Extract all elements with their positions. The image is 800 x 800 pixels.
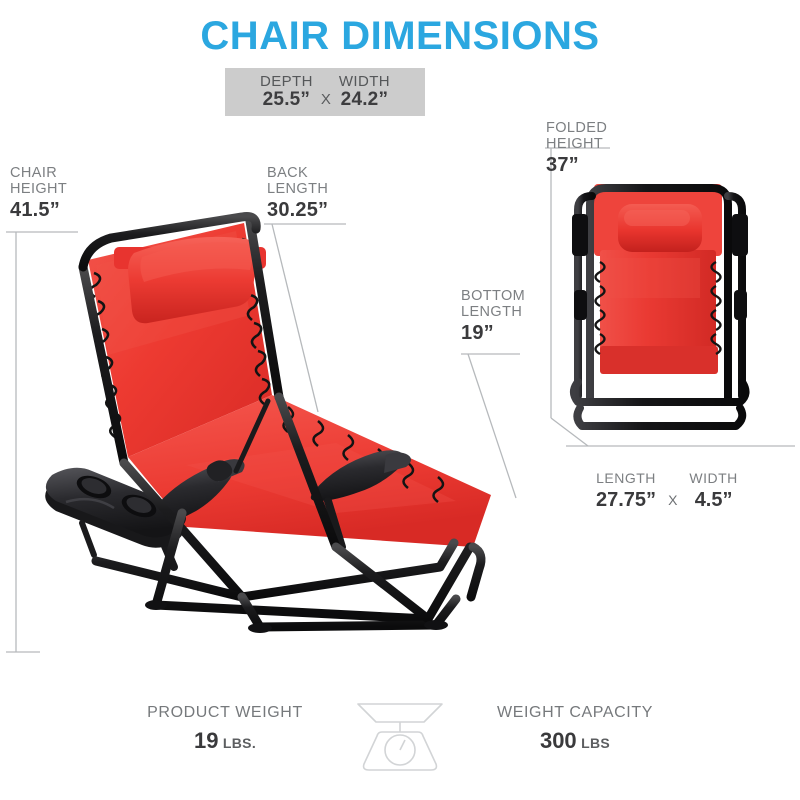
- stat-product-weight: PRODUCT WEIGHT 19 LBS.: [110, 703, 340, 755]
- weight-capacity-caption: WEIGHT CAPACITY: [455, 703, 695, 722]
- callout-chair-height: CHAIR HEIGHT 41.5”: [10, 165, 67, 222]
- folded-length-caption: LENGTH: [596, 470, 656, 486]
- callout-bottom-length: BOTTOM LENGTH 19”: [461, 288, 525, 345]
- chair-height-caption-1: CHAIR: [10, 165, 67, 181]
- folded-height-caption-2: HEIGHT: [546, 136, 607, 152]
- product-weight-caption: PRODUCT WEIGHT: [110, 703, 340, 722]
- folded-width-value: 4.5”: [689, 489, 737, 512]
- chair-height-value: 41.5”: [10, 199, 67, 221]
- scale-tray: [358, 704, 442, 722]
- bottom-length-caption-1: BOTTOM: [461, 288, 525, 304]
- folded-footprint-separator: X: [668, 492, 677, 512]
- bottom-length-caption-2: LENGTH: [461, 304, 525, 320]
- back-length-line: [272, 224, 318, 412]
- kitchen-scale-icon: [352, 698, 448, 774]
- back-length-caption-1: BACK: [267, 165, 328, 181]
- product-weight-number: 19: [194, 728, 218, 753]
- bottom-length-line: [468, 354, 516, 498]
- measurement-leader-lines: [0, 0, 800, 800]
- folded-length-value: 27.75”: [596, 489, 656, 512]
- product-weight-unit: LBS.: [223, 735, 256, 751]
- folded-footprint-group: LENGTH 27.75” X WIDTH 4.5”: [596, 470, 738, 512]
- weight-capacity-unit: LBS: [581, 735, 610, 751]
- bottom-length-value: 19”: [461, 322, 525, 344]
- scale-needle: [400, 740, 405, 750]
- back-length-caption-2: LENGTH: [267, 181, 328, 197]
- folded-width-caption: WIDTH: [689, 470, 737, 486]
- weight-capacity-number: 300: [540, 728, 577, 753]
- folded-height-caption-1: FOLDED: [546, 120, 607, 136]
- back-length-value: 30.25”: [267, 199, 328, 221]
- folded-length-column: LENGTH 27.75”: [596, 470, 656, 512]
- folded-height-diagonal: [551, 418, 588, 446]
- callout-back-length: BACK LENGTH 30.25”: [267, 165, 328, 222]
- infographic-page: CHAIR DIMENSIONS DEPTH 25.5” X WIDTH 24.…: [0, 0, 800, 800]
- folded-width-column: WIDTH 4.5”: [689, 470, 737, 512]
- stat-weight-capacity: WEIGHT CAPACITY 300 LBS: [455, 703, 695, 755]
- callout-folded-height: FOLDED HEIGHT 37”: [546, 120, 607, 177]
- chair-height-caption-2: HEIGHT: [10, 181, 67, 197]
- folded-height-value: 37”: [546, 154, 607, 176]
